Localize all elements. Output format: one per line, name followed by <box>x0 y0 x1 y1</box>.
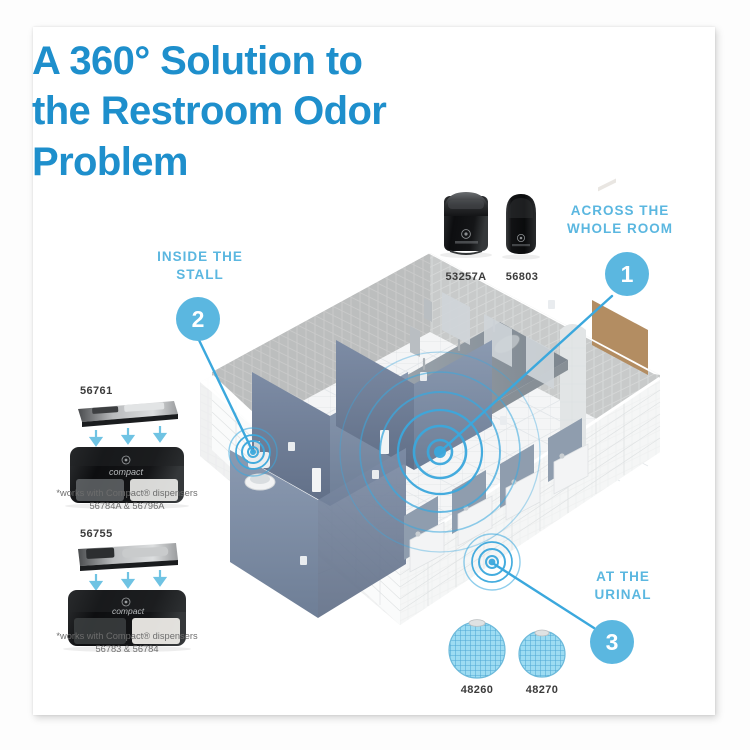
note-56755: *works with Compact® dispensers 56783 & … <box>52 630 202 656</box>
badge-3[interactable]: 3 <box>590 620 634 664</box>
callout-1-line-2: WHOLE ROOM <box>556 220 684 238</box>
page-title-line-2: the Restroom Odor <box>32 86 502 136</box>
callout-label-at-the-urinal: AT THE URINAL <box>568 568 678 604</box>
page-title-line-1: A 360° Solution to <box>32 36 502 86</box>
sku-56755: 56755 <box>52 528 202 540</box>
callout-2-line-2: STALL <box>135 266 265 284</box>
note-56761: *works with Compact® dispensers 56784A &… <box>52 487 202 513</box>
callout-3-line-2: URINAL <box>568 586 678 604</box>
screenshot-root: compact compact <box>0 0 750 750</box>
badge-2[interactable]: 2 <box>176 297 220 341</box>
sku-56761: 56761 <box>52 385 202 397</box>
sku-53257A: 53257A <box>436 271 496 283</box>
badge-1[interactable]: 1 <box>605 252 649 296</box>
callout-label-across-the-whole-room: ACROSS THE WHOLE ROOM <box>556 202 684 238</box>
sku-56803: 56803 <box>492 271 552 283</box>
callout-1-line-1: ACROSS THE <box>556 202 684 220</box>
page-title: A 360° Solution to the Restroom Odor Pro… <box>32 36 502 187</box>
page-title-line-3: Problem <box>32 137 502 187</box>
callout-2-line-1: INSIDE THE <box>135 248 265 266</box>
callout-3-line-1: AT THE <box>568 568 678 586</box>
sku-48270: 48270 <box>512 684 572 696</box>
sku-48260: 48260 <box>447 684 507 696</box>
callout-label-inside-the-stall: INSIDE THE STALL <box>135 248 265 284</box>
